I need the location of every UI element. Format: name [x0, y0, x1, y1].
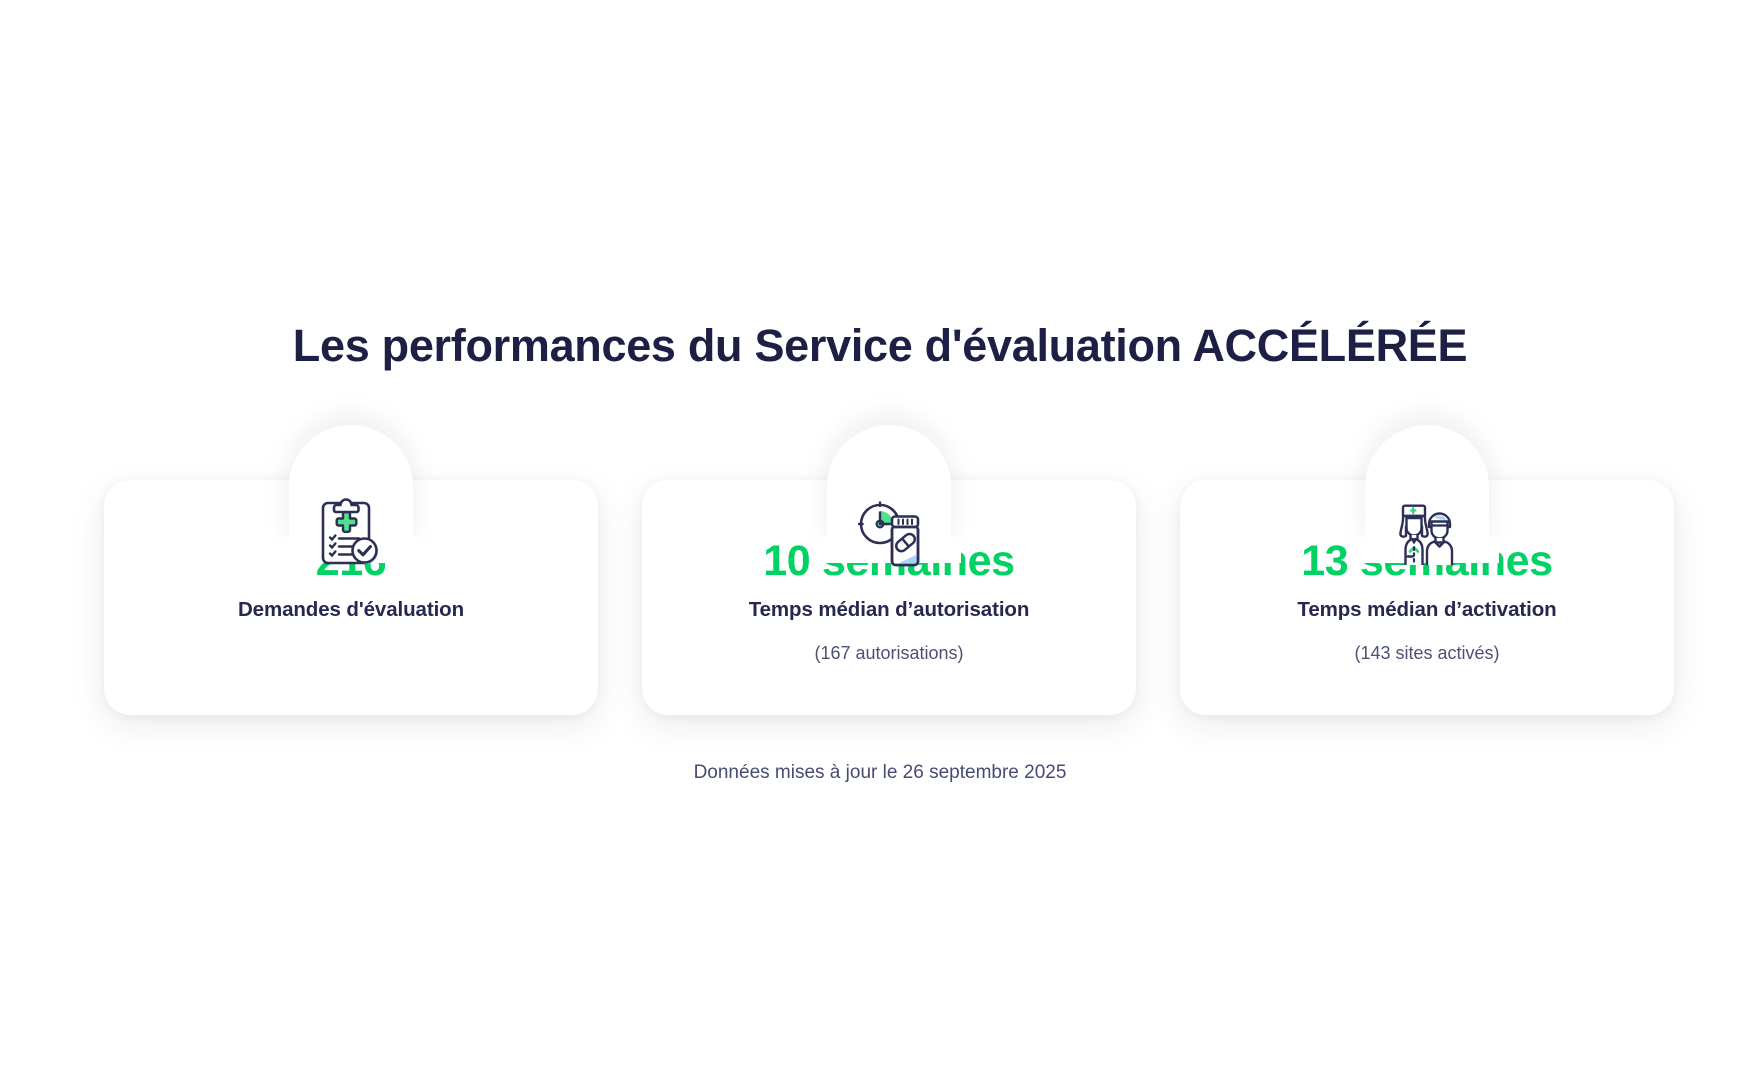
clock-pill-bottle-icon	[847, 494, 931, 578]
stat-card-autorisation: 10 semaines Temps médian d’autorisation …	[642, 480, 1136, 715]
stat-label: Demandes d'évaluation	[104, 596, 598, 624]
stat-label: Temps médian d’activation	[1180, 596, 1674, 624]
page-title: Les performances du Service d'évaluation…	[0, 318, 1760, 374]
data-update-note: Données mises à jour le 26 septembre 202…	[0, 760, 1760, 786]
stat-cards-row: 216 Demandes d'évaluation	[104, 480, 1674, 720]
stat-card-demandes: 216 Demandes d'évaluation	[104, 480, 598, 715]
stat-label: Temps médian d’autorisation	[642, 596, 1136, 624]
stat-sublabel: (143 sites activés)	[1180, 641, 1674, 665]
medical-staff-pair-icon	[1385, 494, 1469, 578]
stat-sublabel: (167 autorisations)	[642, 641, 1136, 665]
infographic-root: Les performances du Service d'évaluation…	[0, 0, 1760, 1080]
stat-card-activation: 13 semaines Temps médian d’activation (1…	[1180, 480, 1674, 715]
clipboard-check-medical-icon	[309, 494, 393, 578]
